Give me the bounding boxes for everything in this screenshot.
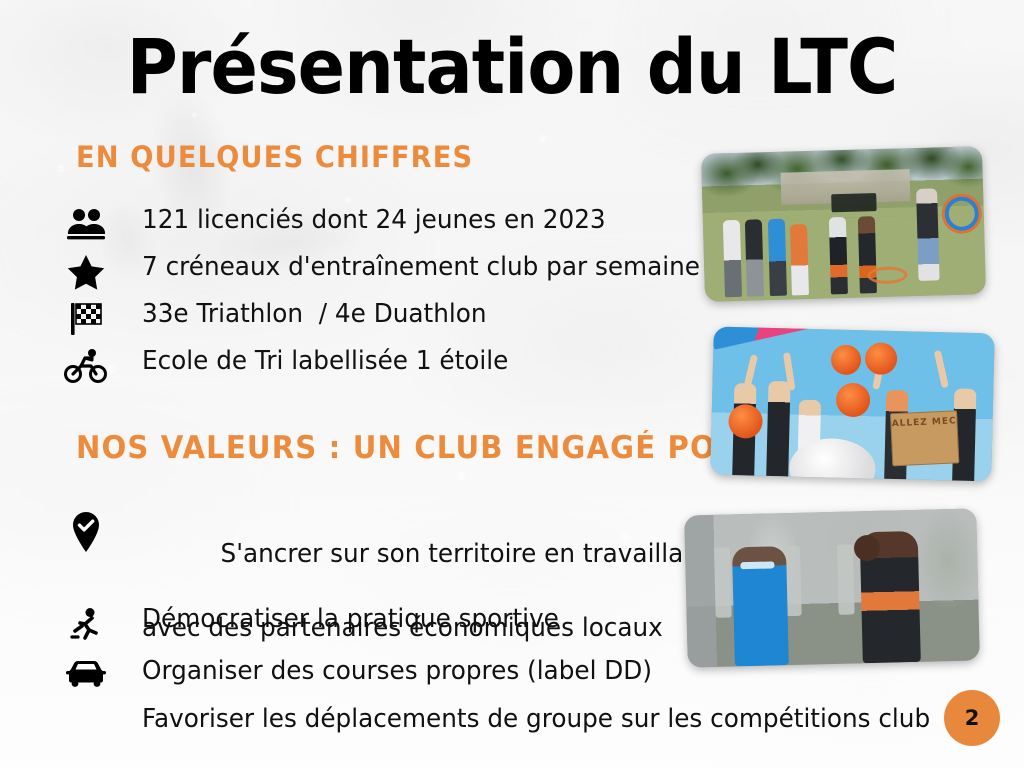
- page-title: Présentation du LTC: [41, 22, 983, 111]
- bullet-list-chiffres: 121 licenciés dont 24 jeunes en 2023 7 c…: [0, 205, 729, 393]
- users-group-icon: [62, 207, 110, 241]
- list-item-label: Favoriser les déplacements de groupe sur…: [142, 704, 930, 735]
- supporter-sign: ALLEZ MEC: [890, 410, 960, 466]
- photo-supporters: ALLEZ MEC: [710, 327, 995, 482]
- page-number: 2: [965, 706, 980, 730]
- list-item: 7 créneaux d'entraînement club par semai…: [0, 252, 729, 297]
- list-item: Favoriser les déplacements de groupe sur…: [0, 704, 972, 752]
- list-item-label: Démocratiser la pratique sportive: [142, 604, 559, 635]
- car-icon: [62, 659, 110, 689]
- section-heading-valeurs: NOS VALEURS : UN CLUB ENGAGÉ POUR...: [76, 430, 801, 466]
- section-heading-chiffres: EN QUELQUES CHIFFRES: [76, 140, 473, 174]
- checkered-flag-icon: [62, 301, 110, 337]
- list-item: 33e Triathlon / 4e Duathlon: [0, 299, 729, 344]
- list-item: 121 licenciés dont 24 jeunes en 2023: [0, 205, 729, 250]
- map-pin-check-icon: [62, 511, 110, 553]
- list-item-label: Organiser des courses propres (label DD): [142, 656, 652, 687]
- photo-kids-training: [701, 146, 986, 302]
- list-item: Ecole de Tri labellisée 1 étoile: [0, 346, 729, 391]
- photo-young-runners: [684, 508, 980, 667]
- page-number-badge: 2: [944, 690, 1000, 746]
- list-item-line1: S'ancrer sur son territoire en travailla…: [221, 539, 709, 569]
- list-item-label: 7 créneaux d'entraînement club par semai…: [142, 252, 700, 283]
- list-item-label: 33e Triathlon / 4e Duathlon: [142, 299, 486, 330]
- supporter-sign-text: ALLEZ MEC: [890, 410, 958, 432]
- list-item-label: 121 licenciés dont 24 jeunes en 2023: [142, 205, 606, 236]
- star-icon: [62, 254, 110, 290]
- running-person-icon: [62, 607, 110, 645]
- cyclist-icon: [62, 348, 110, 384]
- list-item-label: Ecole de Tri labellisée 1 étoile: [142, 346, 508, 377]
- presentation-slide: Présentation du LTC EN QUELQUES CHIFFRES…: [0, 0, 1024, 768]
